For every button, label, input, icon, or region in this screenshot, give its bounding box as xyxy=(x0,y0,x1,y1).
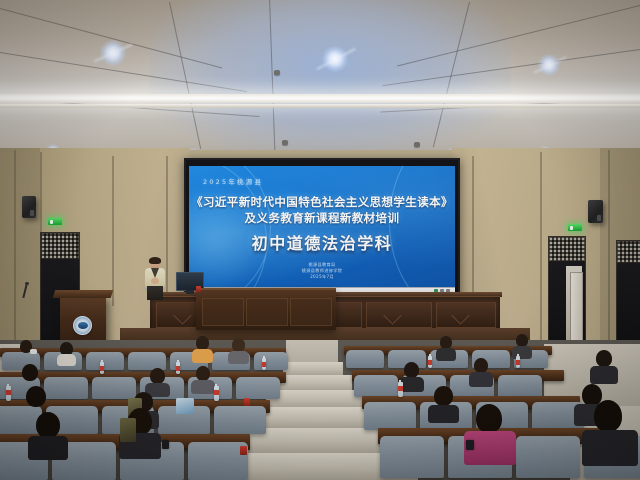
slide-surface: 2025年桃源县 《习近平新时代中国特色社会主义思想学生读本》 及义务教育新课程… xyxy=(189,166,455,288)
attendee-head xyxy=(404,362,419,378)
smartphone[interactable] xyxy=(162,440,169,449)
seat[interactable] xyxy=(364,402,416,430)
attendee-head xyxy=(36,412,60,438)
attendee-torso xyxy=(582,430,638,466)
presenter-hands xyxy=(151,278,159,284)
seat[interactable] xyxy=(346,350,384,368)
wall-seam xyxy=(112,156,114,306)
attendee-head xyxy=(232,338,245,352)
slide-subject-heading: 初中道德法治学科 xyxy=(189,230,455,254)
smoke-detector-icon xyxy=(282,140,288,145)
exit-running-figure-icon xyxy=(570,226,573,230)
wall-speaker-left xyxy=(22,196,36,218)
auditorium-photo: 2025年桃源县 《习近平新时代中国特色社会主义思想学生读本》 及义务教育新课程… xyxy=(0,0,640,480)
podium-top-surface xyxy=(53,290,114,298)
red-marker-box xyxy=(244,398,250,406)
seat[interactable] xyxy=(92,377,136,399)
attendee-torso xyxy=(436,348,456,361)
smoke-detector-icon xyxy=(274,70,280,75)
bottle-label xyxy=(214,390,219,395)
wall-seam xyxy=(608,150,610,348)
ceiling-light-strip-secondary xyxy=(0,104,640,108)
attendee-torso xyxy=(590,366,618,384)
seat[interactable] xyxy=(354,375,398,397)
slide-credits: 桃源县教育局 桃源县教师进修学院 2025年7月 xyxy=(189,262,455,280)
water-bottle xyxy=(6,386,11,401)
attendee-head xyxy=(476,404,502,433)
attendee-head xyxy=(196,366,210,381)
seat[interactable] xyxy=(44,377,88,399)
ceiling-light-strip xyxy=(0,94,640,103)
water-bottle xyxy=(516,356,520,368)
presenter-table xyxy=(196,288,336,330)
school-emblem-icon xyxy=(73,316,92,335)
wall-speaker-right xyxy=(588,200,603,223)
table-front-panel xyxy=(202,298,244,326)
seat[interactable] xyxy=(236,377,280,399)
wall-seam xyxy=(14,150,16,348)
bottle-label xyxy=(176,366,180,371)
attendee-torso xyxy=(428,405,459,423)
attendee-head xyxy=(22,364,38,381)
slide-title-line-1: 《习近平新时代中国特色社会主义思想学生读本》 xyxy=(189,194,455,210)
seat[interactable] xyxy=(380,436,444,478)
exit-sign-right xyxy=(568,224,582,231)
seat[interactable] xyxy=(188,442,248,480)
seat[interactable] xyxy=(214,406,266,434)
attendee-head xyxy=(596,350,612,367)
led-projection-screen[interactable]: 2025年桃源县 《习近平新时代中国特色社会主义思想学生读本》 及义务教育新课程… xyxy=(184,158,460,302)
bottle-label xyxy=(6,390,11,395)
door-transom-grille-left xyxy=(41,233,79,259)
attendee-torso xyxy=(469,372,493,387)
bottle-label xyxy=(516,360,520,365)
water-bottle xyxy=(214,386,219,401)
slide-credit-line-3: 2025年7月 xyxy=(189,274,455,280)
slide-header-text: 2025年桃源县 xyxy=(203,176,263,186)
seat[interactable] xyxy=(86,352,124,370)
attendee-head xyxy=(474,358,488,373)
door-transom-grille-far-right xyxy=(617,241,640,263)
exit-running-figure-icon xyxy=(50,220,53,224)
water-bottle xyxy=(262,358,266,370)
attendee-torso xyxy=(228,351,249,364)
seat[interactable] xyxy=(516,436,580,478)
ceiling xyxy=(0,0,640,152)
presenter-skirt xyxy=(147,286,163,300)
attendee-head xyxy=(26,386,46,407)
smoke-detector-icon xyxy=(414,142,420,147)
table-front-panel xyxy=(290,298,332,326)
attendee-torso xyxy=(512,346,532,359)
attendee-head xyxy=(150,368,165,384)
attendee-torso xyxy=(191,380,215,394)
face-mask xyxy=(30,349,37,354)
center-aisle xyxy=(286,340,338,364)
red-marker-box xyxy=(240,446,247,455)
table-front-panel xyxy=(246,298,288,326)
door-transom-grille-right xyxy=(549,237,585,261)
attendee-torso xyxy=(28,436,68,460)
shopping-bag xyxy=(176,398,194,414)
water-bottle xyxy=(100,362,104,374)
bottle-label xyxy=(100,366,104,371)
water-bottle xyxy=(428,356,432,368)
water-bottle xyxy=(398,382,403,397)
attendee-torso xyxy=(192,349,213,363)
ceiling-blue-glow xyxy=(150,0,510,152)
wall-seam xyxy=(472,156,474,306)
attendee-head xyxy=(196,336,209,350)
attendee-head xyxy=(434,386,453,406)
presenter-hair xyxy=(149,257,161,264)
slide-title-line-2: 及义务教育新课程新教材培训 xyxy=(189,210,455,226)
microphone-head-icon xyxy=(25,282,29,285)
smartphone[interactable] xyxy=(466,440,474,450)
wall-shading xyxy=(0,148,40,348)
bottle-label xyxy=(428,360,432,365)
red-marker-box xyxy=(196,286,201,292)
seat[interactable] xyxy=(128,352,166,370)
aisle-step xyxy=(252,407,376,430)
attendee-head xyxy=(594,400,622,432)
seat[interactable] xyxy=(254,352,288,370)
wall-seam xyxy=(540,152,542,346)
backpack xyxy=(120,418,136,442)
bottle-label xyxy=(262,362,266,367)
water-bottle xyxy=(176,362,180,374)
attendee-torso xyxy=(57,354,76,366)
door-leaf-right xyxy=(570,272,583,344)
exit-sign-left xyxy=(48,218,62,225)
bottle-label xyxy=(398,386,403,391)
seat[interactable] xyxy=(498,375,542,397)
presenter xyxy=(142,258,168,300)
